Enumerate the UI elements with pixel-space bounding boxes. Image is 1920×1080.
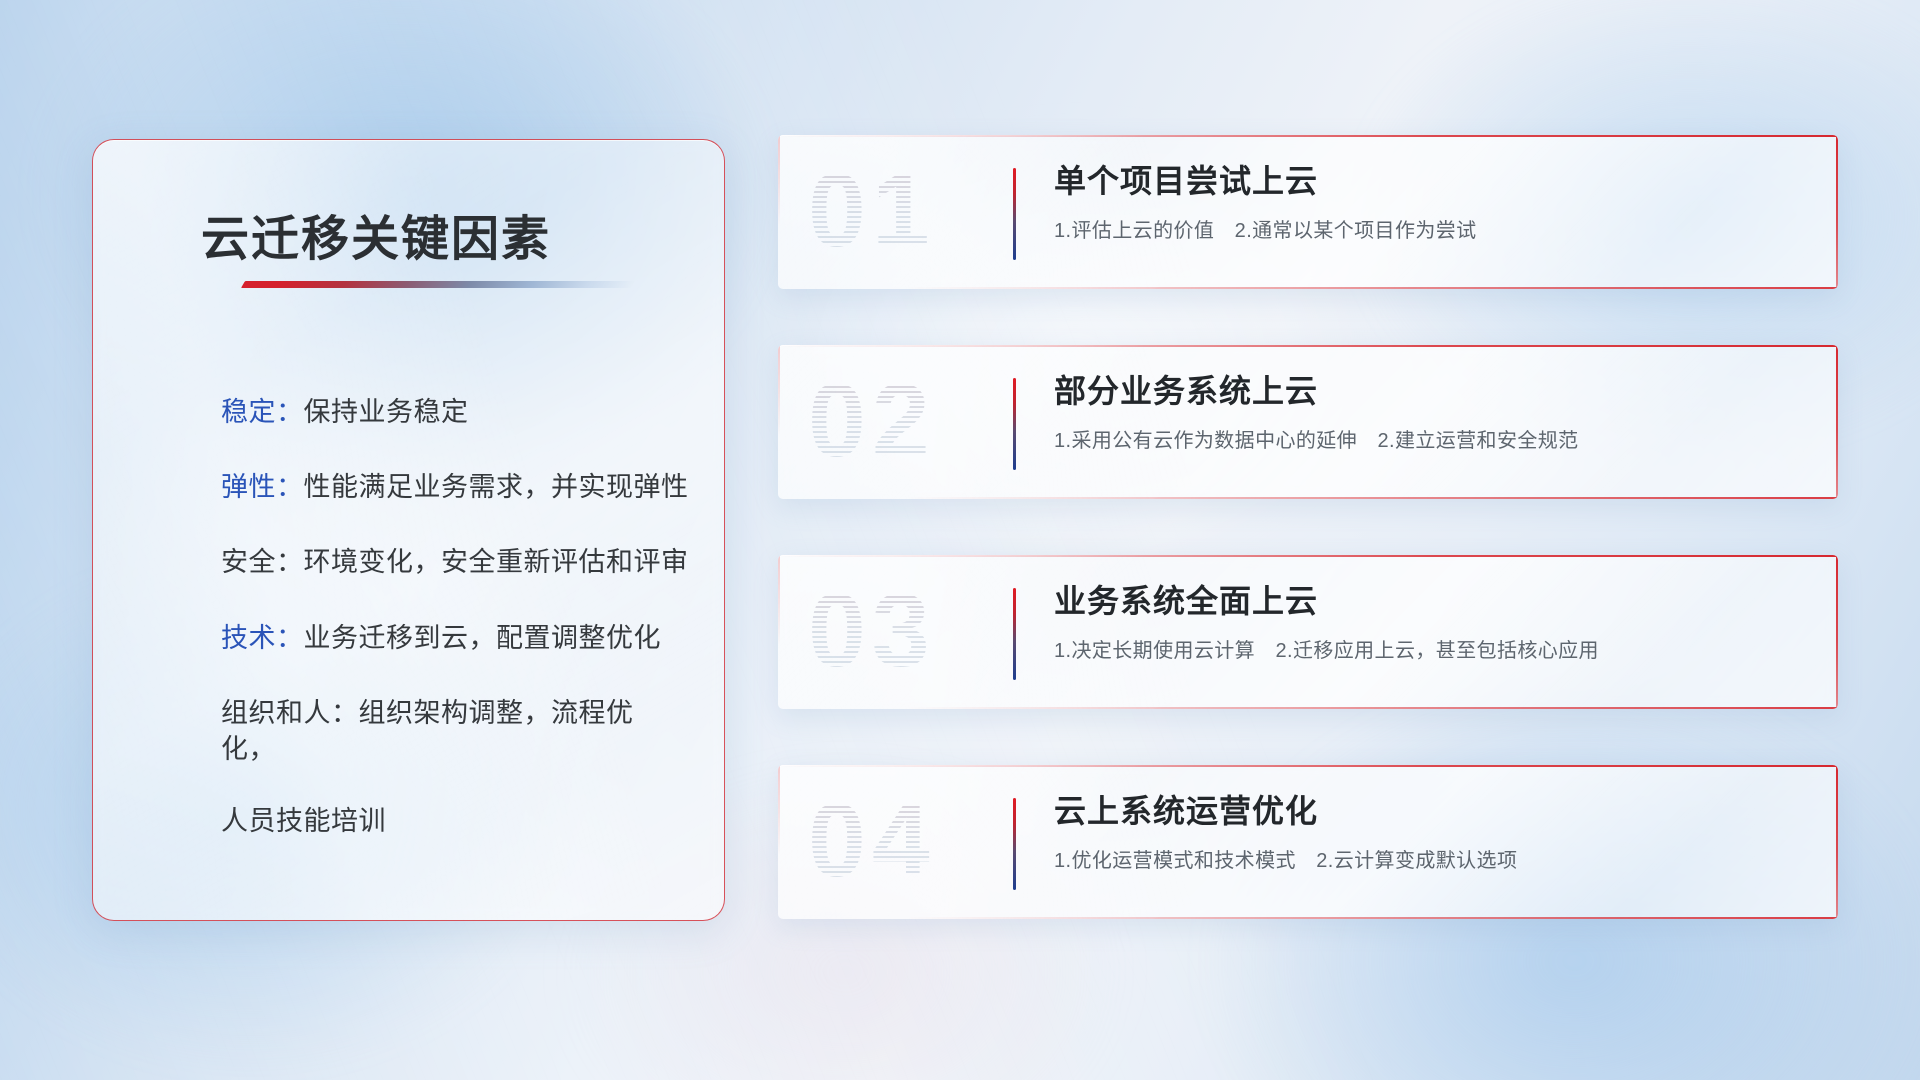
card-left-accent — [778, 765, 780, 919]
card-right-accent — [1836, 555, 1838, 709]
list-item-text: 保持业务稳定 — [304, 397, 469, 427]
stage-card-03[interactable]: 03 03 业务系统全面上云 1.决定长期使用云计算 2.迁移应用上云，甚至包括… — [778, 555, 1838, 709]
list-item-text: 业务迁移到云，配置调整优化 — [304, 623, 662, 653]
list-item-text: 环境变化，安全重新评估和评审 — [304, 547, 689, 577]
stage-subtitle: 1.评估上云的价值 2.通常以某个项目作为尝试 — [1054, 218, 1804, 244]
migration-stages-list: 01 01 单个项目尝试上云 1.评估上云的价值 2.通常以某个项目作为尝试 0… — [778, 135, 1838, 975]
page-title: 云迁移关键因素 — [201, 199, 551, 269]
stage-title: 云上系统运营优化 — [1054, 791, 1804, 831]
card-top-accent — [778, 135, 1838, 137]
stage-text-block: 云上系统运营优化 1.优化运营模式和技术模式 2.云计算变成默认选项 — [1054, 791, 1804, 874]
stage-divider-bar — [1013, 588, 1016, 680]
stage-subtitle: 1.决定长期使用云计算 2.迁移应用上云，甚至包括核心应用 — [1054, 638, 1804, 664]
stage-divider-bar — [1013, 378, 1016, 470]
list-item: 安全：环境变化，安全重新评估和评审 — [221, 544, 684, 580]
stage-card-04[interactable]: 04 04 云上系统运营优化 1.优化运营模式和技术模式 2.云计算变成默认选项 — [778, 765, 1838, 919]
stage-title: 业务系统全面上云 — [1054, 581, 1804, 621]
list-item-text: 性能满足业务需求，并实现弹性 — [304, 472, 689, 502]
card-top-accent — [778, 345, 1838, 347]
card-bottom-accent — [905, 917, 1838, 919]
stage-number-watermark-tint: 01 — [808, 151, 936, 271]
list-item-label: 安全： — [221, 547, 304, 577]
list-item-label: 技术： — [221, 623, 304, 653]
card-right-accent — [1836, 135, 1838, 289]
card-left-accent — [778, 135, 780, 289]
stage-number-watermark-tint: 02 — [808, 361, 936, 481]
title-underline-rule — [241, 281, 635, 288]
card-right-accent — [1836, 765, 1838, 919]
stage-number-watermark-tint: 04 — [808, 781, 936, 901]
stage-card-01[interactable]: 01 01 单个项目尝试上云 1.评估上云的价值 2.通常以某个项目作为尝试 — [778, 135, 1838, 289]
card-right-accent — [1836, 345, 1838, 499]
list-item: 弹性：性能满足业务需求，并实现弹性 — [221, 469, 684, 505]
card-left-accent — [778, 555, 780, 709]
stage-title: 部分业务系统上云 — [1054, 371, 1804, 411]
list-item-continuation: 人员技能培训 — [221, 803, 684, 839]
list-item: 组织和人：组织架构调整，流程优化， — [221, 695, 684, 767]
stage-title: 单个项目尝试上云 — [1054, 161, 1804, 201]
card-left-accent — [778, 345, 780, 499]
stage-text-block: 部分业务系统上云 1.采用公有云作为数据中心的延伸 2.建立运营和安全规范 — [1054, 371, 1804, 454]
stage-card-02[interactable]: 02 02 部分业务系统上云 1.采用公有云作为数据中心的延伸 2.建立运营和安… — [778, 345, 1838, 499]
card-bottom-accent — [905, 287, 1838, 289]
list-item-label: 稳定： — [221, 397, 304, 427]
key-factors-list: 稳定：保持业务稳定 弹性：性能满足业务需求，并实现弹性 安全：环境变化，安全重新… — [221, 394, 684, 878]
list-item-label: 组织和人： — [221, 698, 359, 728]
stage-text-block: 业务系统全面上云 1.决定长期使用云计算 2.迁移应用上云，甚至包括核心应用 — [1054, 581, 1804, 664]
card-bottom-accent — [905, 497, 1838, 499]
card-top-accent — [778, 765, 1838, 767]
stage-subtitle: 1.优化运营模式和技术模式 2.云计算变成默认选项 — [1054, 848, 1804, 874]
stage-divider-bar — [1013, 798, 1016, 890]
stage-text-block: 单个项目尝试上云 1.评估上云的价值 2.通常以某个项目作为尝试 — [1054, 161, 1804, 244]
slide-stage: 云迁移关键因素 稳定：保持业务稳定 弹性：性能满足业务需求，并实现弹性 安全：环… — [0, 0, 1920, 1080]
stage-number-watermark-tint: 03 — [808, 571, 936, 691]
list-item-label: 弹性： — [221, 472, 304, 502]
key-factors-panel: 云迁移关键因素 稳定：保持业务稳定 弹性：性能满足业务需求，并实现弹性 安全：环… — [92, 139, 725, 921]
card-bottom-accent — [905, 707, 1838, 709]
list-item: 稳定：保持业务稳定 — [221, 394, 684, 430]
stage-subtitle: 1.采用公有云作为数据中心的延伸 2.建立运营和安全规范 — [1054, 428, 1804, 454]
list-item: 技术：业务迁移到云，配置调整优化 — [221, 620, 684, 656]
stage-divider-bar — [1013, 168, 1016, 260]
card-top-accent — [778, 555, 1838, 557]
